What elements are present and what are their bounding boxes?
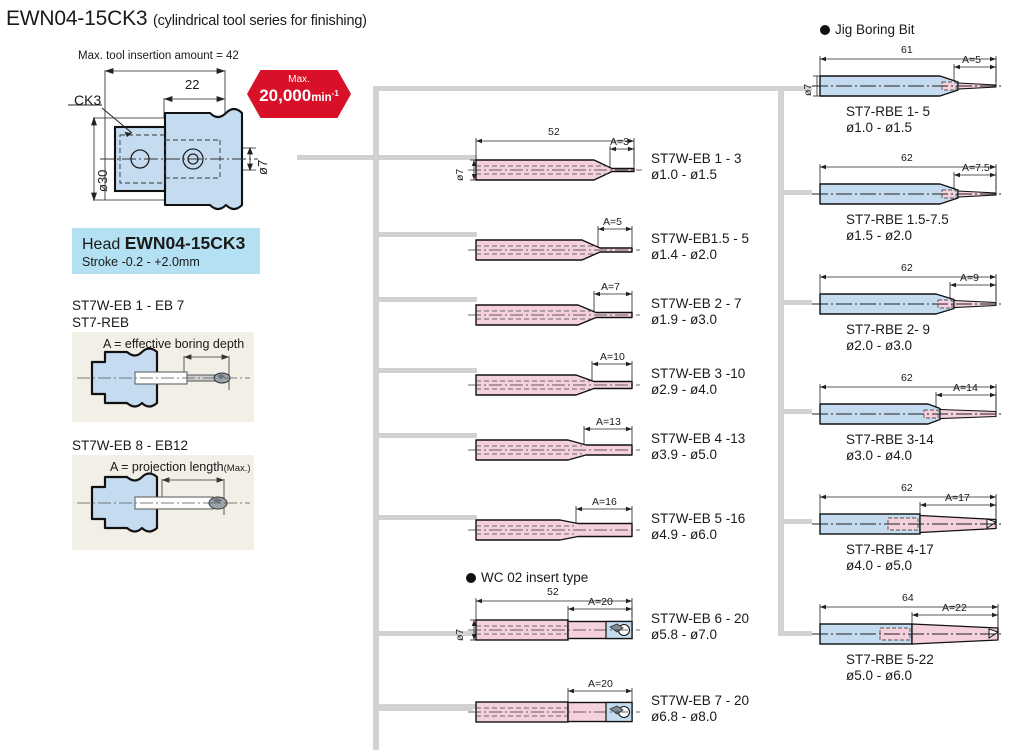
tool-label-name: ST7W-EB 4 -13	[651, 431, 745, 446]
head-box-row1: Head EWN04-15CK3	[82, 233, 245, 254]
tool-label: ST7W-EB 3 -10ø2.9 - ø4.0	[651, 366, 745, 397]
tool-label-range: ø5.0 - ø6.0	[846, 668, 934, 684]
tool-label-name: ST7-RBE 5-22	[846, 652, 934, 667]
trunk-middle-vertical	[373, 86, 379, 750]
tool-label: ST7W-EB 7 - 20ø6.8 - ø8.0	[651, 693, 749, 724]
page-title-sub: (cylindrical tool series for finishing)	[153, 13, 367, 29]
tool-dim-length: 62	[901, 262, 913, 274]
page-title-main: EWN04-15CK3	[6, 7, 147, 30]
tool-row-middle	[466, 210, 666, 272]
tool-label-range: ø3.0 - ø4.0	[846, 448, 934, 464]
tool-label-name: ST7-RBE 2- 9	[846, 322, 930, 337]
tool-row-right	[812, 268, 1012, 328]
trunk-right-vertical	[778, 86, 784, 636]
tool-dim-diameter: ø7	[454, 169, 466, 181]
tool-dim-length: 64	[902, 592, 914, 604]
tool-label: ST7-RBE 5-22ø5.0 - ø6.0	[846, 652, 934, 683]
tool-label-range: ø5.8 - ø7.0	[651, 627, 749, 643]
tool-dim-a: A=14	[953, 382, 978, 394]
head-dim-insertion: Max. tool insertion amount = 42	[78, 50, 239, 63]
bullet-icon	[820, 25, 830, 35]
tool-dim-a: A=20	[588, 678, 613, 690]
branch-middle-5	[379, 433, 477, 438]
badge-unit: min	[311, 92, 331, 104]
tool-label-range: ø2.9 - ø4.0	[651, 382, 745, 398]
tool-label-name: ST7-RBE 4-17	[846, 542, 934, 557]
tool-label-name: ST7W-EB 2 - 7	[651, 296, 742, 311]
tool-label-range: ø1.0 - ø1.5	[846, 120, 930, 136]
head-box-stroke: Stroke -0.2 - +2.0mm	[82, 255, 200, 269]
branch-middle-4	[379, 368, 477, 373]
tool-label-range: ø1.4 - ø2.0	[651, 247, 749, 263]
head-box-prefix: Head	[82, 236, 120, 253]
tool-row-right	[812, 488, 1012, 548]
tool-label-range: ø1.9 - ø3.0	[651, 312, 742, 328]
tool-label-name: ST7W-EB 3 -10	[651, 366, 745, 381]
branch-right-5	[784, 519, 812, 524]
section-header-wc02: WC 02 insert type	[466, 570, 588, 586]
detail-1-title-line1: ST7W-EB 1 - EB 7	[72, 298, 184, 314]
head-info-box: Head EWN04-15CK3 Stroke -0.2 - +2.0mm	[72, 228, 260, 274]
tool-label-name: ST7W-EB 7 - 20	[651, 693, 749, 708]
branch-middle-8	[379, 704, 477, 709]
tool-row-middle	[466, 490, 666, 552]
tool-label: ST7-RBE 4-17ø4.0 - ø5.0	[846, 542, 934, 573]
tool-label-name: ST7W-EB 1 - 3	[651, 151, 742, 166]
tool-label: ST7W-EB1.5 - 5ø1.4 - ø2.0	[651, 231, 749, 262]
tool-label: ST7W-EB 4 -13ø3.9 - ø5.0	[651, 431, 745, 462]
branch-right-2	[784, 190, 812, 195]
tool-row-middle	[466, 590, 666, 652]
tool-label: ST7-RBE 1- 5ø1.0 - ø1.5	[846, 104, 930, 135]
tool-dim-a: A=16	[592, 496, 617, 508]
branch-right-4	[784, 409, 812, 414]
tool-dim-a: A=10	[600, 351, 625, 363]
head-box-model: EWN04-15CK3	[125, 233, 246, 253]
head-dim-d30: ø30	[96, 170, 111, 192]
tool-dim-a: A=22	[942, 602, 967, 614]
tool-label-range: ø1.0 - ø1.5	[651, 167, 742, 183]
branch-middle-3	[379, 297, 477, 302]
tool-row-middle	[466, 672, 666, 734]
branch-right-3	[784, 300, 812, 305]
head-dim-d7: ø7	[256, 160, 271, 175]
head-dim-22: 22	[185, 78, 199, 93]
detail-1-title-line2: ST7-REB	[72, 315, 129, 331]
tool-dim-a: A=3	[610, 136, 629, 148]
branch-right-6	[784, 631, 812, 636]
tool-dim-a: A=17	[945, 492, 970, 504]
tool-dim-a: A=7.5	[962, 162, 990, 174]
tool-label-range: ø6.8 - ø8.0	[651, 709, 749, 725]
tool-label: ST7W-EB 1 - 3ø1.0 - ø1.5	[651, 151, 742, 182]
tool-row-right	[812, 598, 1012, 658]
tool-row-right	[812, 378, 1012, 438]
tool-dim-diameter: ø7	[454, 629, 466, 641]
tool-label-range: ø4.9 - ø6.0	[651, 527, 745, 543]
branch-middle-6	[379, 515, 477, 520]
tool-dim-a: A=5	[962, 54, 981, 66]
tool-label-range: ø1.5 - ø2.0	[846, 228, 949, 244]
tool-label-range: ø2.0 - ø3.0	[846, 338, 930, 354]
tool-row-middle	[466, 275, 666, 337]
tool-row-right	[812, 50, 1012, 110]
branch-middle-1	[379, 155, 477, 160]
tool-label: ST7-RBE 2- 9ø2.0 - ø3.0	[846, 322, 930, 353]
tool-dim-diameter: ø7	[802, 84, 814, 96]
page-title: EWN04-15CK3 (cylindrical tool series for…	[6, 7, 367, 31]
tool-label-name: ST7W-EB 6 - 20	[651, 611, 749, 626]
detail-1-caption: A = effective boring depth	[103, 337, 244, 351]
tool-label: ST7W-EB 2 - 7ø1.9 - ø3.0	[651, 296, 742, 327]
head-label-ck3: CK3	[74, 92, 101, 108]
trunk-middle-top-link	[373, 86, 783, 91]
detail-2-title-line1: ST7W-EB 8 - EB12	[72, 438, 188, 454]
tool-dim-length: 52	[548, 126, 560, 138]
tool-label: ST7W-EB 5 -16ø4.9 - ø6.0	[651, 511, 745, 542]
tool-label-name: ST7-RBE 1- 5	[846, 104, 930, 119]
tool-dim-a: A=5	[603, 216, 622, 228]
tool-dim-a: A=7	[601, 281, 620, 293]
tool-row-middle	[466, 130, 666, 192]
tool-dim-a: A=20	[588, 596, 613, 608]
tool-label-name: ST7W-EB 5 -16	[651, 511, 745, 526]
tool-label-name: ST7-RBE 1.5-7.5	[846, 212, 949, 227]
tool-label-name: ST7-RBE 3-14	[846, 432, 934, 447]
tool-dim-length: 62	[901, 482, 913, 494]
badge-exponent: -1	[332, 89, 339, 98]
branch-middle-2	[379, 232, 477, 237]
tool-dim-length: 61	[901, 44, 913, 56]
tool-label: ST7-RBE 1.5-7.5ø1.5 - ø2.0	[846, 212, 949, 243]
tool-dim-a: A=9	[960, 272, 979, 284]
tool-label-range: ø4.0 - ø5.0	[846, 558, 934, 574]
tool-label-range: ø3.9 - ø5.0	[651, 447, 745, 463]
section-header-jig-boring-bit: Jig Boring Bit	[820, 22, 915, 38]
tool-row-middle	[466, 410, 666, 472]
tool-label: ST7W-EB 6 - 20ø5.8 - ø7.0	[651, 611, 749, 642]
tool-dim-length: 62	[901, 372, 913, 384]
tool-row-middle	[466, 345, 666, 407]
tool-dim-length: 52	[547, 586, 559, 598]
detail-2-caption: A = projection length(Max.)	[110, 460, 251, 475]
bullet-icon	[466, 573, 476, 583]
tool-label: ST7-RBE 3-14ø3.0 - ø4.0	[846, 432, 934, 463]
tool-dim-a: A=13	[596, 416, 621, 428]
tool-label-name: ST7W-EB1.5 - 5	[651, 231, 749, 246]
tool-dim-length: 62	[901, 152, 913, 164]
